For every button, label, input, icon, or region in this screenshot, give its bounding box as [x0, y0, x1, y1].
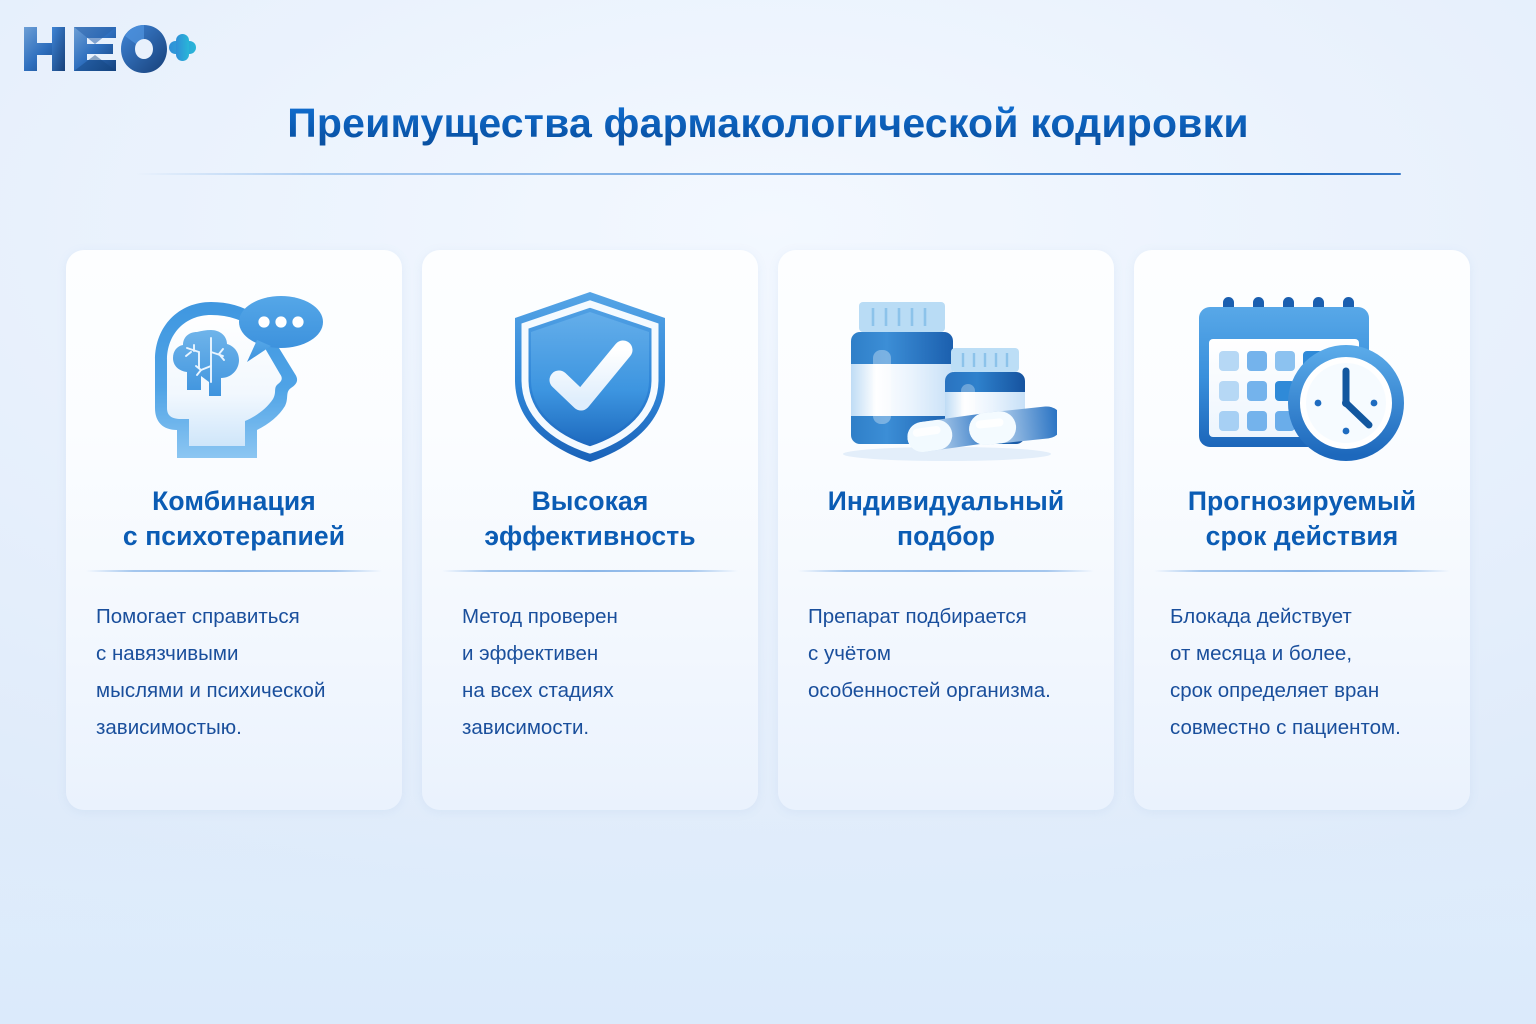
clock-face [1294, 351, 1398, 455]
card-title: Прогнозируемый срок действия [1188, 484, 1416, 556]
page-title: Преимущества фармакологической кодировки [0, 100, 1536, 147]
card-title: Комбинация с психотерапией [123, 484, 345, 556]
card-divider [798, 570, 1094, 572]
logo-letter-o [121, 25, 167, 73]
logo-plus-icon [169, 34, 196, 61]
brand-logo [22, 22, 197, 76]
benefit-card[interactable]: Индивидуальный подбор Препарат подбирает… [778, 250, 1114, 810]
benefit-card-list: Комбинация с психотерапией Помогает спра… [66, 250, 1470, 810]
card-divider [1154, 570, 1450, 572]
card-description: Блокада действует от месяца и более, сро… [1148, 598, 1456, 747]
card-description: Препарат подбирается с учётом особенност… [792, 598, 1100, 710]
shield-check-icon [505, 274, 675, 480]
header: Преимущества фармакологической кодировки [0, 100, 1536, 175]
benefit-card[interactable]: Комбинация с психотерапией Помогает спра… [66, 250, 402, 810]
card-title: Индивидуальный подбор [828, 484, 1064, 556]
calendar-clock-icon [1193, 274, 1411, 480]
logo-letter-n [24, 27, 65, 71]
benefit-card[interactable]: Высокая эффективность Метод проверен и э… [422, 250, 758, 810]
card-description: Метод проверен и эффективен на всех стад… [436, 598, 744, 747]
card-divider [86, 570, 382, 572]
card-divider [442, 570, 738, 572]
infographic-canvas: Преимущества фармакологической кодировки [0, 0, 1536, 1024]
logo-letter-e [74, 27, 116, 71]
card-title: Высокая эффективность [484, 484, 695, 556]
pill-bottles-capsules-icon [835, 274, 1057, 480]
head-brain-speech-bubble-icon [139, 274, 329, 480]
header-divider [136, 173, 1401, 175]
benefit-card[interactable]: Прогнозируемый срок действия Блокада дей… [1134, 250, 1470, 810]
card-description: Помогает справиться с навязчивыми мыслям… [80, 598, 388, 747]
